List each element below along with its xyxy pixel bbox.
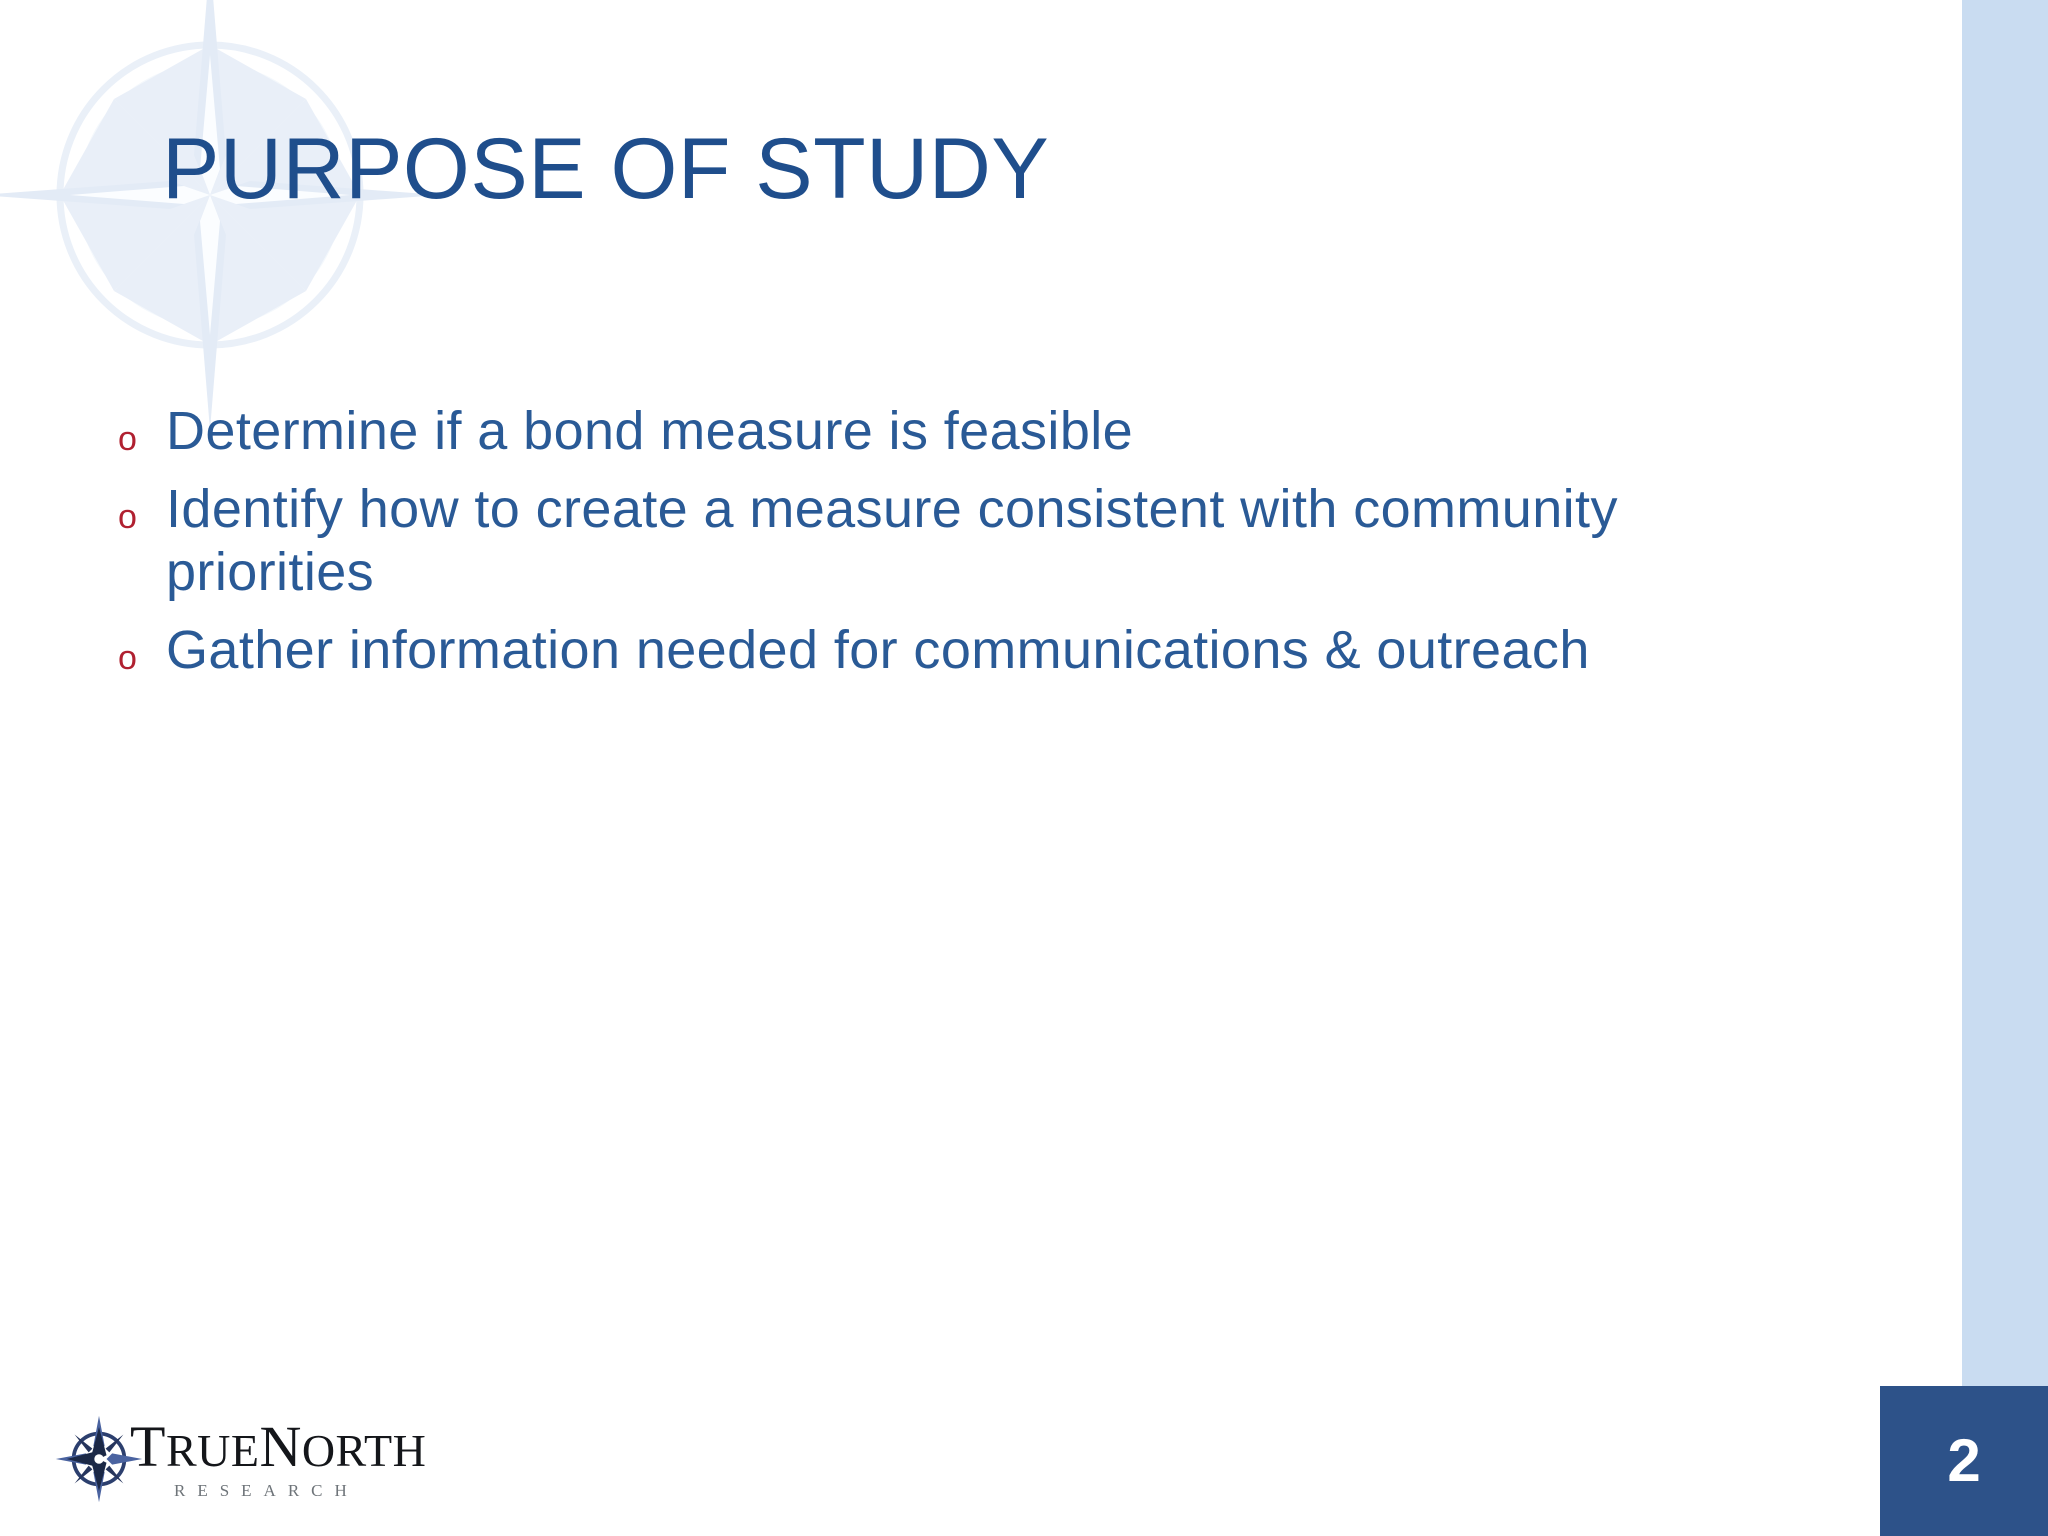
bullet-circle-icon: o <box>118 619 166 675</box>
list-item: o Determine if a bond measure is feasibl… <box>118 400 1818 464</box>
slide-purpose-of-study: PURPOSE OF STUDY o Determine if a bond m… <box>0 0 2048 1536</box>
bullet-text: Gather information needed for communicat… <box>166 619 1776 683</box>
list-item: o Gather information needed for communic… <box>118 619 1818 683</box>
logo-rue: RUE <box>166 1425 260 1476</box>
page-title: PURPOSE OF STUDY <box>162 126 1049 212</box>
bullet-circle-icon: o <box>118 400 166 456</box>
list-item: o Identify how to create a measure consi… <box>118 478 1818 605</box>
right-accent-band <box>1962 0 2048 1536</box>
bullet-text: Identify how to create a measure consist… <box>166 478 1776 605</box>
logo-orth: ORTH <box>302 1425 426 1476</box>
bullet-circle-icon: o <box>118 478 166 534</box>
logo-n: N <box>259 1414 301 1479</box>
logo-wordmark: TRUENORTH RESEARCH <box>130 1418 426 1501</box>
truenorth-research-logo: TRUENORTH RESEARCH <box>52 1404 426 1514</box>
bullet-list: o Determine if a bond measure is feasibl… <box>118 400 1818 697</box>
page-number-badge: 2 <box>1880 1386 2048 1536</box>
logo-subtitle-text: RESEARCH <box>174 1481 426 1501</box>
page-number: 2 <box>1947 1431 1980 1491</box>
bullet-text: Determine if a bond measure is feasible <box>166 400 1776 464</box>
logo-name-text: TRUENORTH <box>130 1418 426 1476</box>
logo-t: T <box>130 1414 166 1479</box>
